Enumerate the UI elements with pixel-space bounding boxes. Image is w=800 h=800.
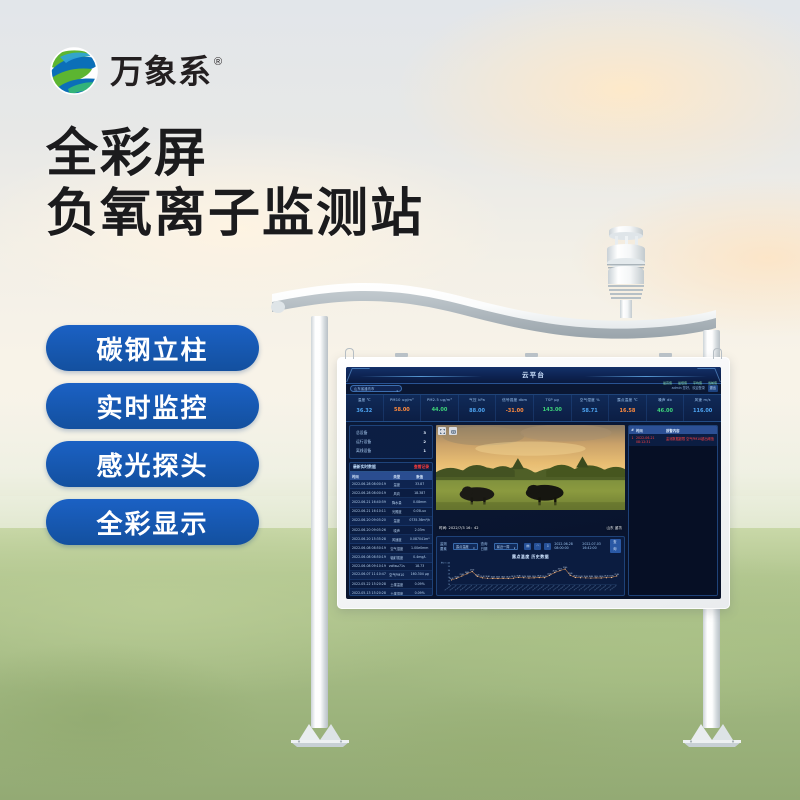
chart-point-label: 31.40 bbox=[563, 567, 567, 569]
table-row[interactable]: 2022-05-13 15:20:28土壤湿度0.09% bbox=[350, 589, 432, 595]
element-filter-select[interactable]: 露点温度 ▾ bbox=[453, 543, 478, 550]
device-stat-row-3: 离线设备1 bbox=[356, 448, 426, 454]
records-section-bar: 最新实时数据 查看记录 bbox=[350, 463, 432, 472]
alarm-time: 2022-06-21 08:12:31 bbox=[636, 436, 666, 444]
records-table-header: 时间类型数值 bbox=[350, 472, 432, 480]
y-axis-tick: 30 bbox=[448, 570, 450, 572]
metric-value: 16.58 bbox=[609, 408, 646, 414]
records-section-title: 最新实时数据 bbox=[353, 464, 376, 470]
record-type: 温度 bbox=[386, 518, 407, 523]
chart-point-label: 19.40 bbox=[537, 576, 541, 578]
metric-cell-10: 风速 m/s116.00 bbox=[684, 395, 721, 421]
alarm-column-header: # bbox=[629, 428, 636, 433]
metric-value: -31.00 bbox=[496, 408, 533, 414]
region-selector-value: 山东省潍坊市 bbox=[354, 387, 374, 391]
view-alarm-records-link[interactable]: 查看记录 bbox=[414, 464, 429, 470]
chart-point-label: 19.20 bbox=[542, 576, 546, 578]
metric-label: 空气湿度 % bbox=[572, 398, 609, 403]
table-row[interactable]: 2022-06-28 08:00:19温度33.87 bbox=[350, 480, 432, 489]
records-column-header: 类型 bbox=[386, 474, 407, 479]
device-stat-label: 总设备 bbox=[356, 430, 367, 436]
chart-plot-area: 10152025303540单位(℃)16.2006-28 08:0018.40… bbox=[440, 561, 621, 593]
metric-cell-3: PM2.5 ug/m³44.00 bbox=[421, 395, 459, 421]
brand-name: 万象系 bbox=[110, 55, 212, 88]
dashboard-screen: 云平台 山东省潍坊市 ▾ admin 您好，欢迎登录 退出 温度 ℃36.32P… bbox=[346, 367, 721, 599]
y-axis-tick: 10 bbox=[448, 584, 450, 586]
base-plate-right bbox=[679, 722, 745, 748]
legend-entry: 最低值 bbox=[678, 381, 687, 385]
metric-label: TSP μg bbox=[534, 398, 571, 402]
chart-point-label: 18.90 bbox=[599, 576, 603, 578]
metric-cell-8: 露点温度 ℃16.58 bbox=[609, 395, 647, 421]
dashboard-body: 总设备3运行设备2离线设备1 最新实时数据 查看记录 时间类型数值 2022-0… bbox=[346, 422, 721, 599]
chart-legend: 最高值最低值平均值当前值 bbox=[663, 381, 717, 385]
record-type: 光照度 bbox=[386, 509, 407, 514]
date-filter-value: 最近一周 bbox=[497, 545, 510, 549]
metric-label: PM2.5 ug/m³ bbox=[421, 398, 458, 402]
metric-value: 36.32 bbox=[346, 408, 383, 414]
date-filter-label: 查询日期 bbox=[481, 541, 491, 551]
metric-cell-2: PM10 ug/m³58.00 bbox=[384, 395, 422, 421]
record-time: 2022-06-07 11:10:47 bbox=[350, 572, 386, 577]
record-type: 降水量 bbox=[386, 500, 407, 505]
metric-value: 88.00 bbox=[459, 408, 496, 414]
device-stat-value: 1 bbox=[423, 448, 426, 454]
record-value: 33.87 bbox=[407, 482, 432, 487]
table-row[interactable]: 2022-06-08 09:10:19voltsω71s18.73 bbox=[350, 563, 432, 571]
device-status-panel: 总设备3运行设备2离线设备1 bbox=[349, 425, 433, 459]
record-time: 2022-06-08 08:50:19 bbox=[350, 555, 386, 560]
realtime-records-panel: 最新实时数据 查看记录 时间类型数值 2022-06-28 08:00:19温度… bbox=[349, 462, 433, 596]
record-time: 2022-06-20 09:05:26 bbox=[350, 528, 386, 533]
device-stat-label: 离线设备 bbox=[356, 448, 371, 454]
chart-controls: 监测要素 露点温度 ▾ 查询日期 最近一周 ▾ bbox=[440, 539, 621, 553]
y-axis-unit-label: 单位(℃) bbox=[441, 562, 448, 565]
camera-toolbar[interactable] bbox=[438, 427, 457, 435]
chart-point-label: 27.90 bbox=[470, 570, 474, 572]
device-stat-value: 3 bbox=[423, 430, 426, 436]
chart-point-label: 19.80 bbox=[516, 575, 520, 577]
record-type: 土壤温度 bbox=[386, 582, 407, 587]
camera-location: 山东 潍坊 bbox=[606, 526, 622, 531]
record-time: 2022-06-21 16:40:59 bbox=[350, 500, 386, 505]
metric-label: 风速 m/s bbox=[684, 398, 721, 403]
record-value: 2.03m bbox=[407, 528, 432, 533]
range-end: 2022-07-03 16:42:00 bbox=[582, 542, 607, 550]
record-time: 2022-06-21 16:10:11 bbox=[350, 509, 386, 514]
record-type: 辐射强度 bbox=[386, 555, 407, 560]
line-chart-svg: 10152025303540单位(℃)16.2006-28 08:0018.40… bbox=[440, 561, 621, 593]
metric-label: PM10 ug/m³ bbox=[384, 398, 421, 402]
brand-logo: 万象系 ® bbox=[48, 45, 222, 97]
live-camera-panel[interactable]: 时间: 2022/7/3 16：42 山东 潍坊 bbox=[436, 425, 625, 533]
camera-feed-image bbox=[436, 425, 625, 510]
metric-label: 噪声 db bbox=[647, 398, 684, 403]
query-button[interactable]: 查询 bbox=[610, 539, 621, 553]
base-plate-left bbox=[287, 722, 353, 748]
record-type: 空气湿度 bbox=[386, 546, 407, 551]
metric-value: 46.00 bbox=[647, 408, 684, 414]
record-type: 土壤湿度 bbox=[386, 591, 407, 595]
record-type: voltsω71s bbox=[386, 564, 407, 568]
alarm-column-header: 时间 bbox=[636, 428, 666, 433]
history-chart-panel: 监测要素 露点温度 ▾ 查询日期 最近一周 ▾ bbox=[436, 536, 625, 596]
dashboard-title: 云平台 bbox=[346, 369, 721, 379]
device-stat-row-2: 运行设备2 bbox=[356, 439, 426, 445]
legend-entry: 平均值 bbox=[693, 381, 702, 385]
account-label: admin 您好，欢迎登录 bbox=[672, 385, 705, 392]
feature-pill-list: 碳钢立柱实时监控感光探头全彩显示 bbox=[46, 325, 259, 545]
chart-point-label: 19.60 bbox=[609, 576, 613, 578]
record-value: 1.00e0mm bbox=[407, 546, 432, 551]
table-view-icon[interactable]: ▤ bbox=[524, 543, 531, 550]
record-value: 0.4mg/L bbox=[407, 555, 432, 560]
metric-cell-9: 噪声 db46.00 bbox=[647, 395, 685, 421]
table-row[interactable]: 2022-06-21 16:40:59降水量0.08mm bbox=[350, 498, 432, 507]
chart-point-label: 19.30 bbox=[604, 576, 608, 578]
metric-cell-4: 气压 kPa88.00 bbox=[459, 395, 497, 421]
line-chart-icon[interactable]: ◠ bbox=[534, 543, 541, 550]
headline-block: 全彩屏 负氧离子监测站 bbox=[46, 124, 424, 245]
legend-entry: 当前值 bbox=[708, 381, 717, 385]
table-row[interactable]: 2022-06-20 09:05:26噪声2.03m bbox=[350, 526, 432, 535]
table-row[interactable]: 2022-06-20 09:05:20温度0735.36m³/h bbox=[350, 517, 432, 526]
table-row[interactable]: 2022-06-21 16:10:11光照度0.05Lux bbox=[350, 508, 432, 517]
logout-button[interactable]: 退出 bbox=[708, 385, 718, 392]
alarm-column-header: 报警内容 bbox=[666, 428, 717, 433]
record-time: 2022-06-08 09:10:19 bbox=[350, 564, 386, 568]
support-post-left bbox=[311, 316, 328, 728]
record-time: 2022-06-08 08:50:19 bbox=[350, 546, 386, 551]
record-value: 0.087041m³ bbox=[407, 537, 432, 542]
outdoor-display-monitor: 云平台 山东省潍坊市 ▾ admin 您好，欢迎登录 退出 温度 ℃36.32P… bbox=[337, 357, 730, 609]
metric-label: 信号强度 dbm bbox=[496, 398, 533, 403]
chart-point-label: 29.10 bbox=[558, 569, 562, 571]
y-axis-tick: 40 bbox=[448, 563, 450, 565]
headline-line-2: 负氧离子监测站 bbox=[46, 184, 424, 244]
device-stat-label: 运行设备 bbox=[356, 439, 371, 445]
metric-cell-1: 温度 ℃36.32 bbox=[346, 395, 384, 421]
dashboard-toolbar: 山东省潍坊市 ▾ admin 您好，欢迎登录 退出 bbox=[346, 384, 721, 394]
chevron-down-icon: ▾ bbox=[473, 545, 474, 552]
chart-point-label: 19.10 bbox=[480, 576, 484, 578]
feature-pill-2: 实时监控 bbox=[46, 383, 259, 429]
camera-timestamp: 时间: 2022/7/3 16：42 bbox=[439, 526, 479, 531]
chart-point-label: 26.40 bbox=[553, 571, 557, 573]
device-stat-row-1: 总设备3 bbox=[356, 430, 426, 436]
table-row[interactable]: 2022-05-22 15:20:28土壤温度0.09% bbox=[350, 580, 432, 589]
alarm-table-header: #时间报警内容 bbox=[629, 426, 717, 434]
record-time: 2022-05-13 15:20:28 bbox=[350, 591, 386, 595]
chart-point-label: 18.30 bbox=[506, 577, 510, 579]
table-row[interactable]: 2022-06-20 15:35:28风速度0.087041m³ bbox=[350, 535, 432, 544]
range-start: 2022-06-28 08:00:00 bbox=[554, 542, 579, 550]
record-value: 0.05Lux bbox=[407, 509, 432, 514]
element-filter-value: 露点温度 bbox=[456, 545, 469, 549]
chart-point-label: 18.90 bbox=[527, 576, 531, 578]
alarm-empty-space bbox=[629, 446, 717, 595]
chart-title: 露点温度 历史数据 bbox=[440, 554, 621, 560]
date-filter-select[interactable]: 最近一周 ▾ bbox=[494, 543, 519, 550]
table-row[interactable]: 2022-06-08 08:50:19空气湿度1.00e0mm bbox=[350, 544, 432, 553]
chevron-down-icon: ▾ bbox=[396, 388, 398, 395]
alarm-index: 1 bbox=[629, 436, 636, 444]
metric-value: 143.00 bbox=[534, 407, 571, 413]
chart-point-label: 19.20 bbox=[522, 576, 526, 578]
registered-trademark-icon: ® bbox=[214, 56, 222, 68]
y-axis-tick: 15 bbox=[448, 581, 450, 583]
chart-point-label: 24.80 bbox=[465, 572, 469, 574]
metric-value: 58.00 bbox=[384, 407, 421, 413]
table-row[interactable]: 2022-06-07 11:10:47空气PM10160.304 μg bbox=[350, 571, 432, 580]
chart-point-label: 19.60 bbox=[573, 576, 577, 578]
metric-row: 温度 ℃36.32PM10 ug/m³58.00PM2.5 ug/m³44.00… bbox=[346, 394, 721, 422]
headline-line-1: 全彩屏 bbox=[46, 124, 424, 184]
metric-value: 44.00 bbox=[421, 407, 458, 413]
table-row[interactable]: 2022-06-08 08:50:19辐射强度0.4mg/L bbox=[350, 554, 432, 563]
chart-point-label: 19.00 bbox=[584, 576, 588, 578]
region-selector[interactable]: 山东省潍坊市 ▾ bbox=[350, 385, 402, 392]
left-column: 总设备3运行设备2离线设备1 最新实时数据 查看记录 时间类型数值 2022-0… bbox=[349, 425, 433, 596]
record-value: 18.73 bbox=[407, 564, 432, 568]
record-time: 2022-06-28 08:00:19 bbox=[350, 482, 386, 487]
chevron-down-icon: ▾ bbox=[514, 545, 515, 552]
chart-point-label: 18.70 bbox=[511, 576, 515, 578]
record-value: 0.09% bbox=[407, 591, 432, 595]
record-type: 温度 bbox=[386, 482, 407, 487]
alarm-panel: #时间报警内容 12022-06-21 08:12:31监测数据超限 空气PM1… bbox=[628, 425, 718, 596]
alarm-text: 监测数据超限 空气PM10超出阈值 bbox=[666, 436, 717, 444]
records-column-header: 时间 bbox=[350, 474, 386, 479]
y-axis-tick: 25 bbox=[448, 573, 450, 575]
metric-label: 露点温度 ℃ bbox=[609, 398, 646, 403]
alarm-table-body: 12022-06-21 08:12:31监测数据超限 空气PM10超出阈值 bbox=[629, 434, 717, 446]
metric-label: 温度 ℃ bbox=[346, 398, 383, 403]
fullscreen-icon[interactable] bbox=[438, 427, 446, 435]
record-type: 风速度 bbox=[386, 537, 407, 542]
record-time: 2022-06-20 15:35:28 bbox=[350, 537, 386, 542]
chart-point-label: 19.10 bbox=[594, 576, 598, 578]
metric-label: 气压 kPa bbox=[459, 398, 496, 403]
chart-point-label: 22.60 bbox=[547, 573, 551, 575]
record-value: 160.304 μg bbox=[407, 572, 432, 577]
feature-pill-4: 全彩显示 bbox=[46, 499, 259, 545]
record-type: 风向 bbox=[386, 491, 407, 496]
record-value: 0.08mm bbox=[407, 500, 432, 505]
record-value: 18.387 bbox=[407, 491, 432, 496]
feature-pill-3: 感光探头 bbox=[46, 441, 259, 487]
snapshot-icon[interactable] bbox=[449, 427, 457, 435]
chart-point-label: 18.50 bbox=[501, 576, 505, 578]
chart-point-label: 18.20 bbox=[496, 577, 500, 579]
records-table-body: 2022-06-28 08:00:19温度33.872022-06-28 08:… bbox=[350, 480, 432, 595]
chart-point-label: 18.80 bbox=[589, 576, 593, 578]
y-axis-tick: 35 bbox=[448, 566, 450, 568]
record-value: 0735.36m³/h bbox=[407, 518, 432, 523]
device-stat-value: 2 bbox=[423, 439, 426, 445]
alarm-row[interactable]: 12022-06-21 08:12:31监测数据超限 空气PM10超出阈值 bbox=[629, 434, 717, 446]
metric-cell-6: TSP μg143.00 bbox=[534, 395, 572, 421]
metric-cell-5: 信号强度 dbm-31.00 bbox=[496, 395, 534, 421]
feature-pill-1: 碳钢立柱 bbox=[46, 325, 259, 371]
chart-point-label: 19.10 bbox=[532, 576, 536, 578]
chart-point-label: 21.80 bbox=[615, 574, 619, 576]
export-icon[interactable]: ⇩ bbox=[544, 543, 551, 550]
metric-value: 116.00 bbox=[684, 408, 721, 414]
record-time: 2022-06-28 08:00:19 bbox=[350, 491, 386, 496]
metric-value: 58.71 bbox=[572, 408, 609, 414]
records-column-header: 数值 bbox=[407, 474, 432, 479]
record-type: 空气PM10 bbox=[386, 572, 407, 577]
chart-point-label: 18.60 bbox=[485, 576, 489, 578]
globe-swirl-icon bbox=[48, 45, 100, 97]
chart-point-label: 18.40 bbox=[455, 576, 459, 578]
legend-entry: 最高值 bbox=[663, 381, 672, 385]
chart-point-label: 21.60 bbox=[460, 574, 464, 576]
chart-point-label: 18.40 bbox=[491, 576, 495, 578]
element-filter-label: 监测要素 bbox=[440, 541, 450, 551]
center-column: 时间: 2022/7/3 16：42 山东 潍坊 监测要素 露点温度 ▾ 查询日… bbox=[436, 425, 625, 596]
chart-point-label: 19.20 bbox=[578, 576, 582, 578]
table-row[interactable]: 2022-06-28 08:00:19风向18.387 bbox=[350, 489, 432, 498]
record-value: 0.09% bbox=[407, 582, 432, 587]
record-time: 2022-06-20 09:05:20 bbox=[350, 518, 386, 523]
ultrasonic-weather-sensor-icon bbox=[597, 222, 655, 318]
metric-cell-7: 空气湿度 %58.71 bbox=[572, 395, 610, 421]
record-type: 噪声 bbox=[386, 528, 407, 533]
record-time: 2022-05-22 15:20:28 bbox=[350, 582, 386, 587]
